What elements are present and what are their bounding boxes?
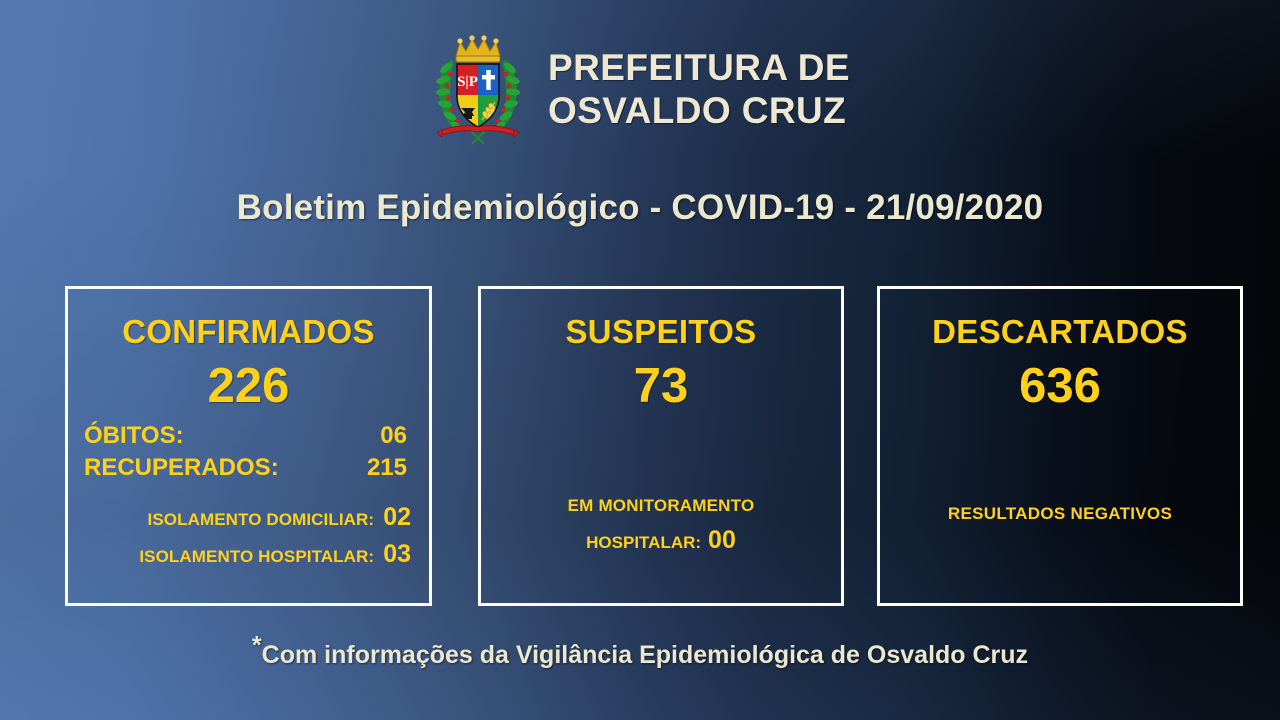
card-title: DESCARTADOS: [880, 313, 1240, 351]
stat-row: ISOLAMENTO HOSPITALAR: 03: [78, 536, 411, 573]
svg-text:S|P: S|P: [457, 74, 478, 90]
stat-row: ÓBITOS: 06: [84, 420, 413, 452]
stat-value: 00: [708, 526, 736, 555]
sao-paulo-coat-of-arms-icon: S|P: [430, 34, 526, 146]
stat-label: ISOLAMENTO DOMICILIAR:: [148, 508, 375, 533]
bulletin-poster: S|P: [0, 0, 1280, 720]
card-total: 73: [481, 361, 841, 412]
footnote-asterisk: *: [252, 632, 262, 660]
stat-value: 215: [367, 452, 413, 484]
card-title: CONFIRMADOS: [68, 313, 429, 351]
stat-row: RECUPERADOS: 215: [84, 452, 413, 484]
stat-label: ÓBITOS:: [84, 420, 184, 452]
card-confirmados: CONFIRMADOS 226 ÓBITOS: 06 RECUPERADOS: …: [65, 286, 432, 606]
stat-row: ISOLAMENTO DOMICILIAR: 02: [78, 499, 411, 536]
suspeitos-note: EM MONITORAMENTO HOSPITALAR: 00: [481, 496, 841, 555]
monitoring-label: EM MONITORAMENTO: [481, 496, 841, 516]
confirmados-isolation-rows: ISOLAMENTO DOMICILIAR: 02 ISOLAMENTO HOS…: [68, 499, 429, 572]
stat-label: HOSPITALAR:: [586, 533, 701, 553]
card-suspeitos: SUSPEITOS 73 EM MONITORAMENTO HOSPITALAR…: [478, 286, 844, 606]
stat-label: RECUPERADOS:: [84, 452, 279, 484]
negative-results-label: RESULTADOS NEGATIVOS: [880, 504, 1240, 524]
stat-value: 02: [383, 499, 411, 536]
card-total: 226: [68, 361, 429, 412]
card-descartados: DESCARTADOS 636 RESULTADOS NEGATIVOS: [877, 286, 1243, 606]
stat-value: 03: [383, 536, 411, 573]
stat-row: HOSPITALAR: 00: [481, 526, 841, 555]
confirmados-main-rows: ÓBITOS: 06 RECUPERADOS: 215: [68, 420, 429, 483]
footnote-text: Com informações da Vigilância Epidemioló…: [262, 641, 1028, 669]
brand-title: PREFEITURA DE OSVALDO CRUZ: [548, 47, 850, 133]
stat-label: ISOLAMENTO HOSPITALAR:: [139, 545, 374, 570]
footnote: *Com informações da Vigilância Epidemiol…: [0, 641, 1280, 670]
page-title: Boletim Epidemiológico - COVID-19 - 21/0…: [0, 188, 1280, 228]
card-total: 636: [880, 361, 1240, 412]
header: S|P: [0, 34, 1280, 146]
card-title: SUSPEITOS: [481, 313, 841, 351]
stat-value: 06: [380, 420, 413, 452]
